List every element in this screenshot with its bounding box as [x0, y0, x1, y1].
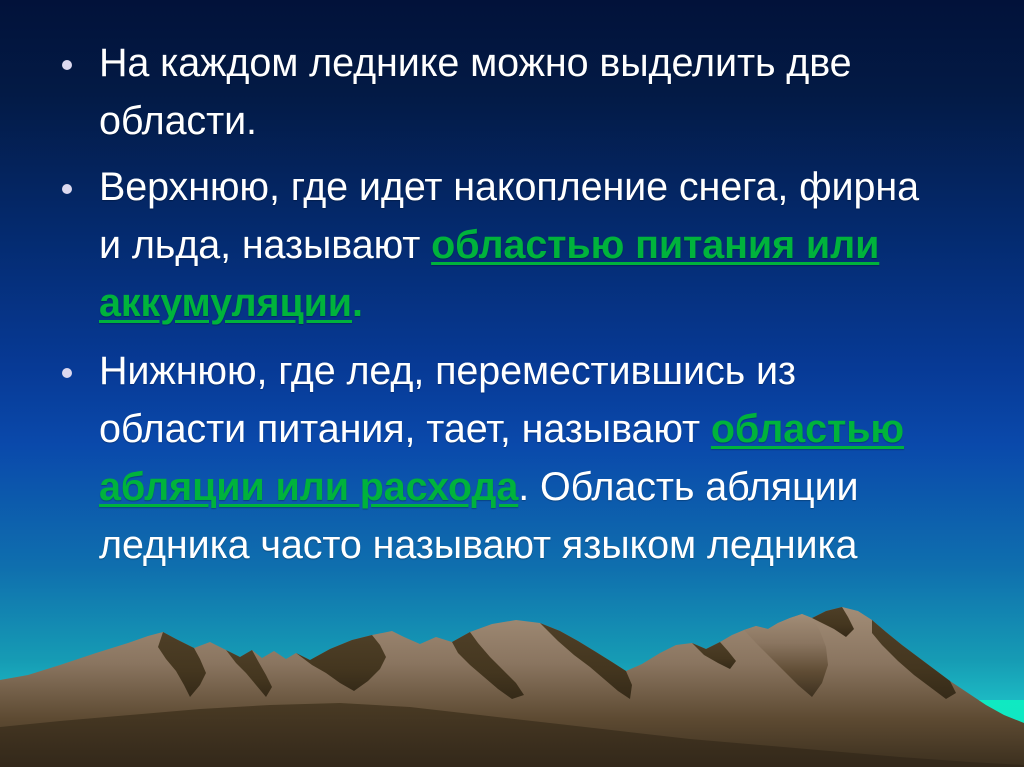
list-item: На каждом леднике можно выделить две обл… [0, 34, 1024, 150]
bullet-dot-icon [62, 184, 72, 194]
bullet-1-segment-plain: На каждом леднике можно выделить две обл… [99, 41, 852, 143]
bullet-3-segment-period: . [518, 465, 529, 509]
slide-body: На каждом леднике можно выделить две обл… [0, 0, 1024, 580]
mountain-silhouette [0, 587, 1024, 767]
presentation-slide: На каждом леднике можно выделить две обл… [0, 0, 1024, 767]
list-item: Верхнюю, где идет накопление снега, фирн… [0, 158, 1024, 332]
bullet-3-segment-plain-1: Нижнюю, где лед, переместившись из облас… [99, 349, 796, 451]
bullet-3-text: Нижнюю, где лед, переместившись из облас… [99, 342, 944, 574]
bullet-1-text: На каждом леднике можно выделить две обл… [99, 34, 944, 150]
bullet-2-segment-period: . [352, 281, 363, 325]
bullet-dot-icon [62, 60, 72, 70]
bullet-dot-icon [62, 368, 72, 378]
list-item: Нижнюю, где лед, переместившись из облас… [0, 342, 1024, 574]
bullet-2-text: Верхнюю, где идет накопление снега, фирн… [99, 158, 944, 332]
